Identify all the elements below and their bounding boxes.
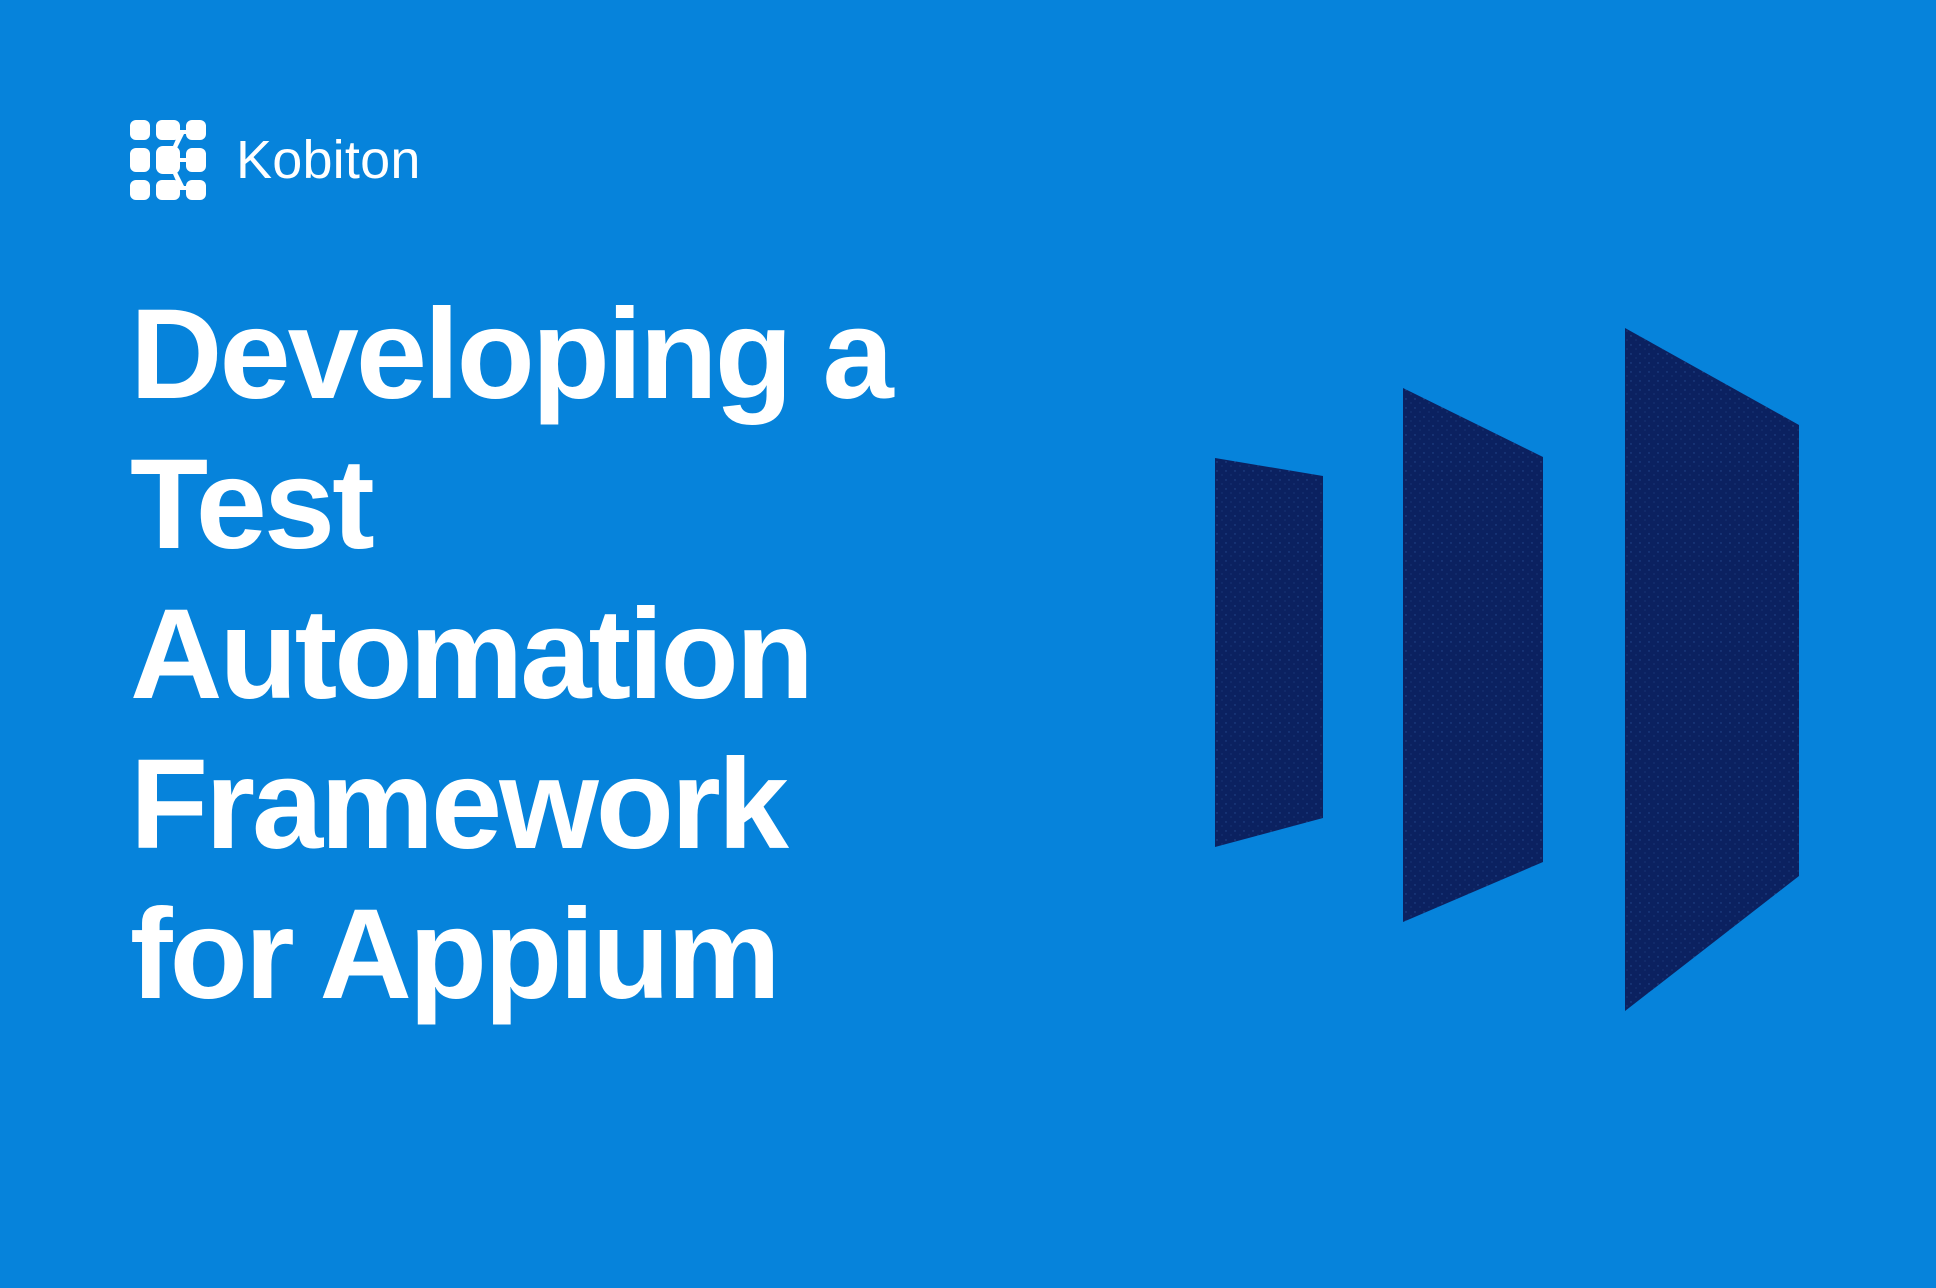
headline-line-3: Automation xyxy=(130,580,1070,730)
headline-line-2: Test xyxy=(130,430,1070,580)
kobiton-grid-mark-icon xyxy=(128,118,212,202)
headline-line-5: for Appium xyxy=(130,880,1070,1030)
panel-small-shape xyxy=(1200,440,1360,870)
hero-banner: Kobiton Developing a Test Automation Fra… xyxy=(0,0,1936,1288)
page-title: Developing a Test Automation Framework f… xyxy=(130,280,1070,1030)
brand-wordmark: Kobiton xyxy=(236,133,421,187)
panel-medium-shape xyxy=(1390,370,1570,940)
panel-large-shape xyxy=(1610,310,1820,1030)
headline-line-4: Framework xyxy=(130,730,1070,880)
brand-lockup[interactable]: Kobiton xyxy=(128,118,421,202)
headline-line-1: Developing a xyxy=(130,280,1070,430)
